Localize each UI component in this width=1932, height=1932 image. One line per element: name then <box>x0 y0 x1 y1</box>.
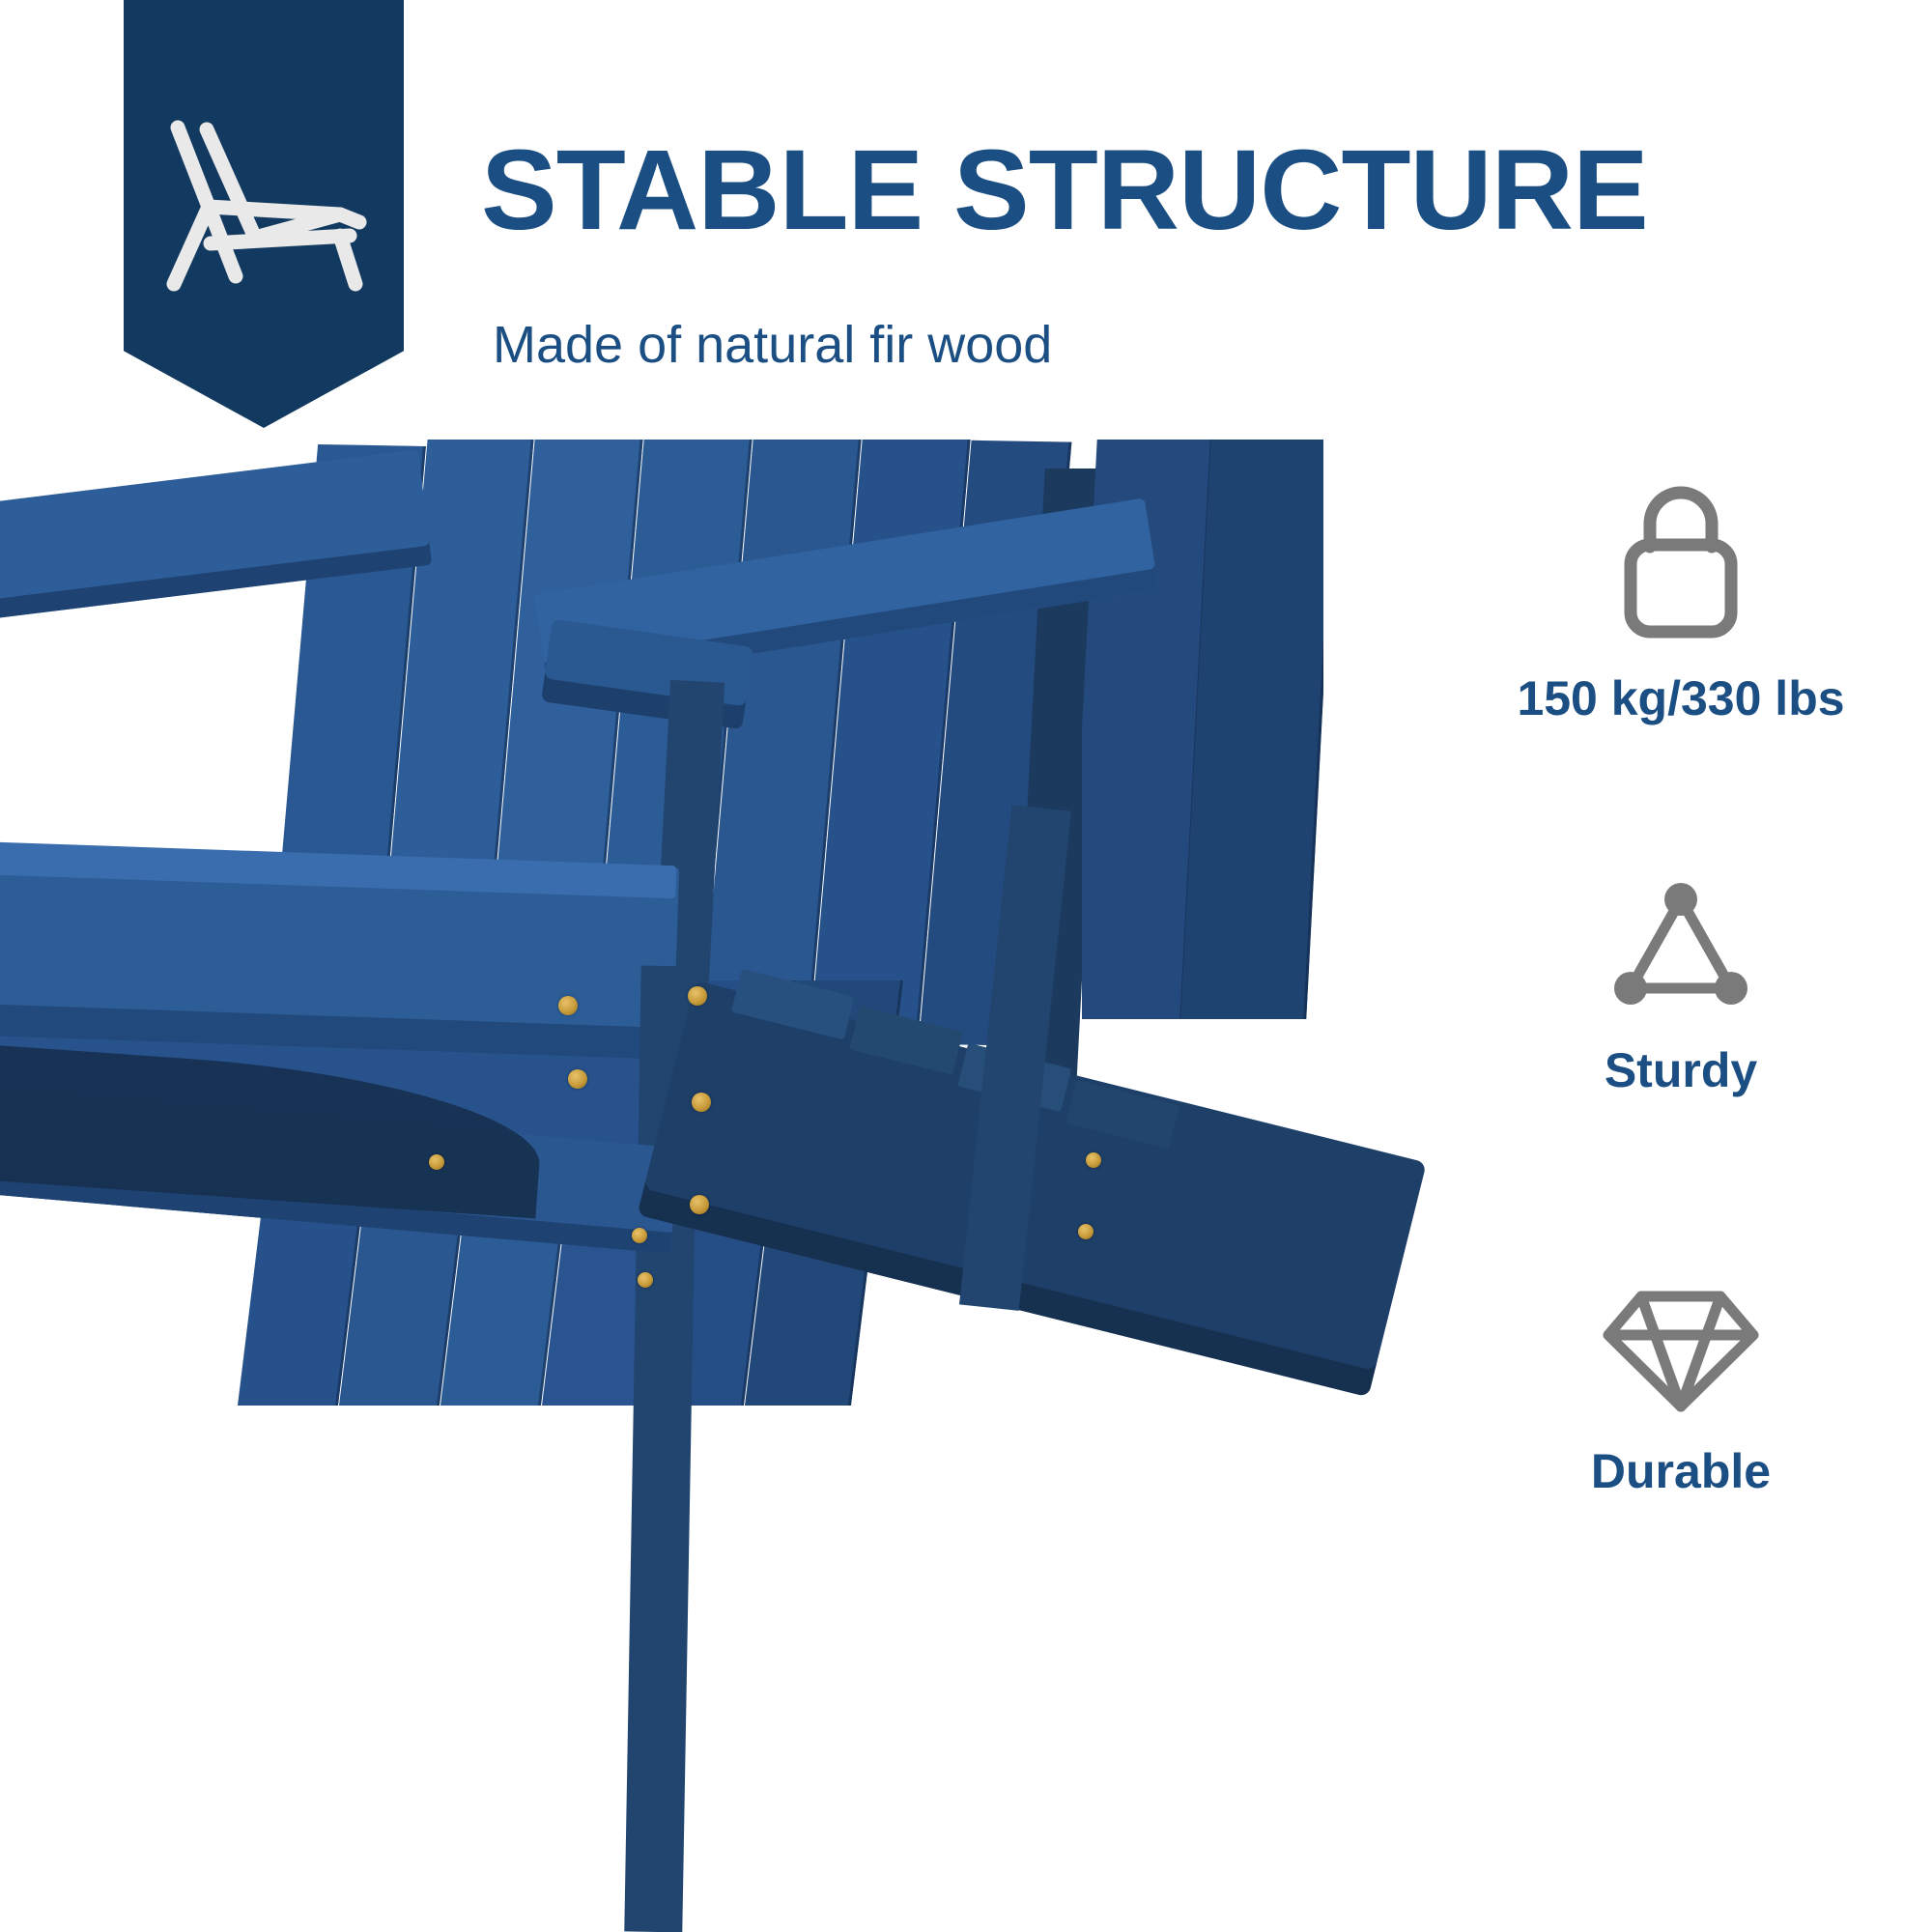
header-section: STABLE STRUCTURE Made of natural fir woo… <box>0 0 1932 454</box>
feature-item-capacity: 150 kg/330 lbs <box>1430 473 1932 725</box>
adirondack-chair-icon <box>151 114 378 298</box>
screw <box>429 1154 444 1170</box>
screw <box>690 1195 709 1214</box>
screw <box>568 1069 587 1089</box>
feature-list: 150 kg/330 lbs Sturdy Durable <box>1430 473 1932 1884</box>
triangle-nodes-icon <box>1604 874 1758 1019</box>
page-title: STABLE STRUCTURE <box>481 133 1648 247</box>
feature-label: Durable <box>1430 1445 1932 1498</box>
product-photo <box>0 440 1430 1932</box>
feature-label: Sturdy <box>1430 1044 1932 1097</box>
screw <box>692 1093 711 1112</box>
feature-item-durable: Durable <box>1430 1275 1932 1498</box>
feature-label: 150 kg/330 lbs <box>1430 672 1932 725</box>
screw <box>558 996 578 1015</box>
screw <box>1086 1152 1101 1168</box>
screw <box>632 1228 647 1243</box>
screw <box>638 1272 653 1288</box>
diamond-icon <box>1599 1275 1763 1420</box>
feature-item-sturdy: Sturdy <box>1430 874 1932 1097</box>
padlock-icon <box>1604 473 1758 647</box>
screw <box>688 986 707 1006</box>
page-subtitle: Made of natural fir wood <box>493 319 1052 371</box>
header-badge-banner <box>124 0 404 428</box>
screw <box>1078 1224 1094 1239</box>
infographic-canvas: STABLE STRUCTURE Made of natural fir woo… <box>0 0 1932 1932</box>
